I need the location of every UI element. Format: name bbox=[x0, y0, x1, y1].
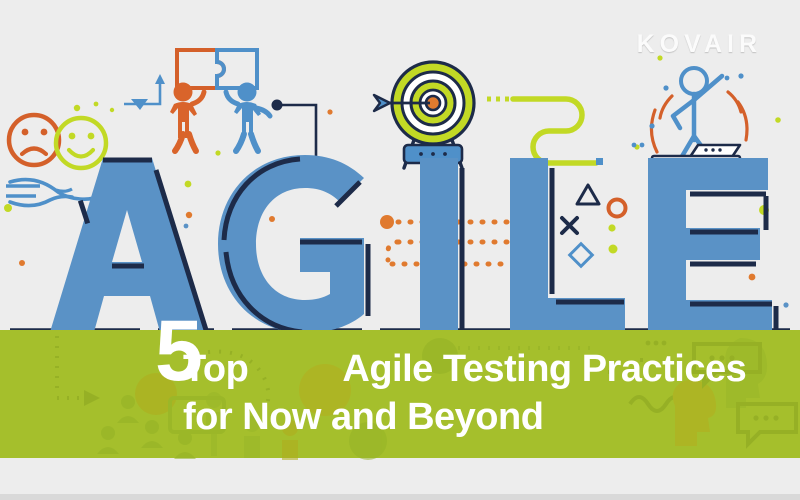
green-banner bbox=[0, 0, 800, 500]
footer-strip bbox=[0, 458, 800, 500]
kovair-logo[interactable]: KOVAIR bbox=[637, 30, 762, 59]
poster-canvas: .lf{fill:#5a92c6;} .lo{fill:none;stroke:… bbox=[0, 0, 800, 500]
